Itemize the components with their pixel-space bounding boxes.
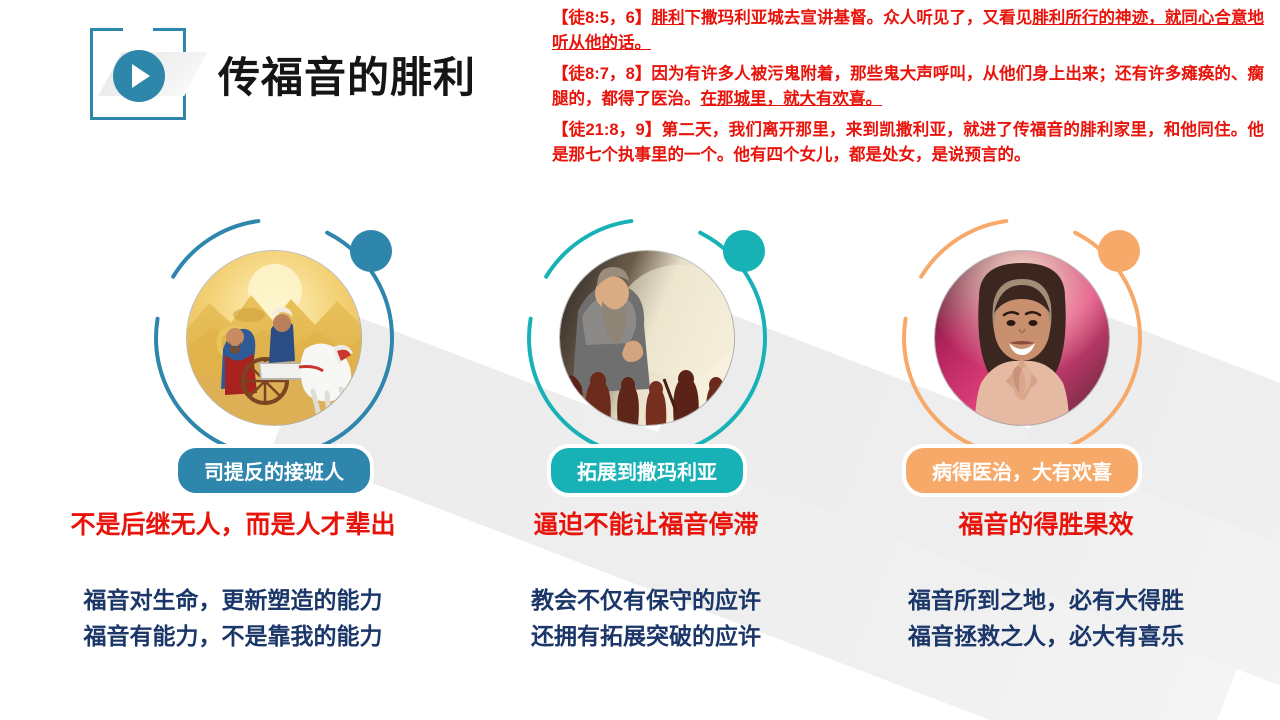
subtext-line: 还拥有拓展突破的应许 [466, 619, 826, 655]
subtext-row: 福音对生命，更新塑造的能力 福音有能力，不是靠我的能力 教会不仅有保守的应许 还… [0, 583, 1280, 654]
accent-dot-1 [350, 230, 392, 272]
circle-graphic-3 [898, 214, 1146, 462]
page-title: 传福音的腓利 [218, 44, 476, 105]
scripture-verse: 【徒8:7，8】因为有许多人被污鬼附着，那些鬼大声呼叫，从他们身上出来；还有许多… [552, 62, 1264, 112]
presentation-slide: 传福音的腓利 【徒8:5，6】腓利下撒玛利亚城去宣讲基督。众人听见了，又看见腓利… [0, 0, 1280, 720]
accent-dot-3 [1098, 230, 1140, 272]
subtext-line: 教会不仅有保守的应许 [466, 583, 826, 619]
verse-segment: 因为有许多人被污鬼附着，那些鬼大声呼叫，从他们身上出来；还有许多瘫痪的、瘸腿的，… [552, 65, 1264, 108]
illustration-philip-chariot [187, 251, 361, 425]
column-pill-label-1[interactable]: 司提反的接班人 [174, 444, 374, 497]
subtext-group-3: 福音所到之地，必有大得胜 福音拯救之人，必大有喜乐 [826, 583, 1266, 654]
illustration-preacher-and-crowd [560, 251, 734, 425]
headline-3: 福音的得胜果效 [826, 505, 1266, 541]
verse-segment: 在那城里，就大有欢喜。 [701, 90, 883, 108]
verse-reference: 【徒8:7，8】 [552, 65, 651, 83]
frame-side-left [90, 52, 93, 96]
headline-row: 不是后继无人，而是人才辈出 逼迫不能让福音停滞 福音的得胜果效 [0, 505, 1280, 541]
headline-2: 逼迫不能让福音停滞 [466, 505, 826, 541]
subtext-line: 福音所到之地，必有大得胜 [826, 583, 1266, 619]
subtext-group-2: 教会不仅有保守的应许 还拥有拓展突破的应许 [466, 583, 826, 654]
content-column-3: 病得医治，大有欢喜 [872, 214, 1172, 497]
content-column-1: 司提反的接班人 [124, 214, 424, 497]
column-pill-label-2[interactable]: 拓展到撒玛利亚 [547, 444, 747, 497]
scripture-block: 【徒8:5，6】腓利下撒玛利亚城去宣讲基督。众人听见了，又看见腓利所行的神迹，就… [552, 6, 1264, 174]
column-pill-label-3[interactable]: 病得医治，大有欢喜 [902, 444, 1142, 497]
verse-segment: 下撒玛利亚城去宣讲基督。众人听见了，又看见 [685, 9, 1033, 27]
slide-header: 传福音的腓利 [0, 0, 540, 140]
subtext-group-1: 福音对生命，更新塑造的能力 福音有能力，不是靠我的能力 [0, 583, 466, 654]
photo-smiling-praying-woman [935, 251, 1109, 425]
circle-graphic-2 [523, 214, 771, 462]
scripture-verse: 【徒8:5，6】腓利下撒玛利亚城去宣讲基督。众人听见了，又看见腓利所行的神迹，就… [552, 6, 1264, 56]
subtext-line: 福音对生命，更新塑造的能力 [0, 583, 466, 619]
content-column-2: 拓展到撒玛利亚 [497, 214, 797, 497]
frame-side-bottom [114, 117, 162, 120]
circle-graphic-1 [150, 214, 398, 462]
subtext-line: 福音有能力，不是靠我的能力 [0, 619, 466, 655]
headline-1: 不是后继无人，而是人才辈出 [0, 505, 466, 541]
verse-reference: 【徒8:5，6】 [552, 9, 651, 27]
accent-dot-2 [723, 230, 765, 272]
verse-reference: 【徒21:8，9】 [552, 121, 662, 139]
scripture-verse: 【徒21:8，9】第二天，我们离开那里，来到凯撒利亚，就进了传福音的腓利家里，和… [552, 118, 1264, 168]
subtext-line: 福音拯救之人，必大有喜乐 [826, 619, 1266, 655]
play-button-icon[interactable] [113, 50, 165, 102]
verse-segment: 腓利 [651, 9, 684, 27]
